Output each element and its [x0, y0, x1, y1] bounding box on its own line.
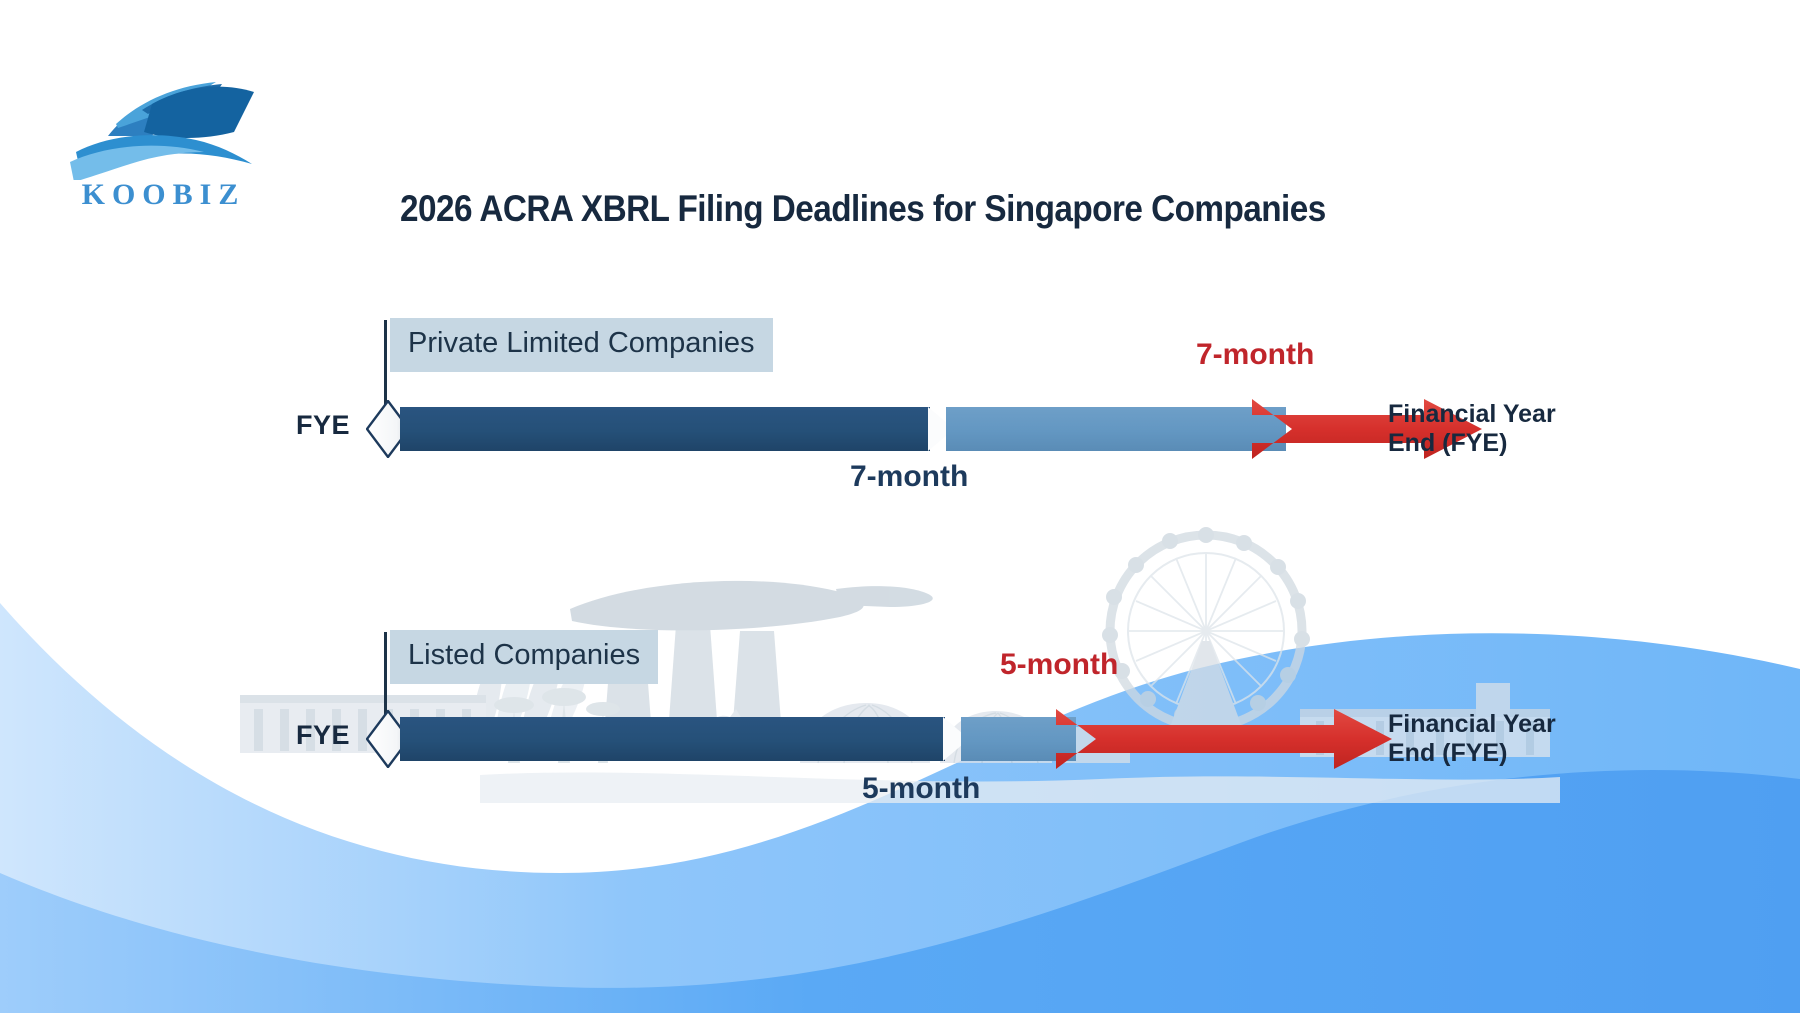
fye-end-line1: Financial Year: [1388, 710, 1556, 739]
deadline-arrow-listed: [1056, 703, 1392, 775]
fye-end-line1: Financial Year: [1388, 400, 1556, 429]
fye-end-line2: End (FYE): [1388, 739, 1556, 768]
fye-start-label-private: FYE: [296, 410, 350, 441]
caption-bottom-private: 7-month: [850, 460, 968, 494]
fye-start-label-listed: FYE: [296, 720, 350, 751]
category-label-private: Private Limited Companies: [390, 318, 773, 372]
caption-top-listed: 5-month: [1000, 648, 1118, 682]
fye-end-line2: End (FYE): [1388, 429, 1556, 458]
page-title: 2026 ACRA XBRL Filing Deadlines for Sing…: [400, 188, 1326, 230]
fye-end-label-listed: Financial Year End (FYE): [1388, 710, 1556, 768]
fye-end-label-private: Financial Year End (FYE): [1388, 400, 1556, 458]
brand-logo: KOOBIZ: [56, 70, 271, 215]
infographic-canvas: KOOBIZ 2026 ACRA XBRL Filing Deadlines f…: [0, 0, 1800, 1013]
bar-segment-mid-private: [946, 407, 1286, 451]
caption-bottom-listed: 5-month: [862, 772, 980, 806]
bar-segment-dark-private: [400, 407, 930, 451]
category-label-listed: Listed Companies: [390, 630, 658, 684]
caption-top-private: 7-month: [1196, 338, 1314, 372]
brand-name: KOOBIZ: [56, 178, 271, 212]
bar-segment-dark-listed: [400, 717, 945, 761]
ship-wave-logo-icon: [56, 70, 271, 180]
